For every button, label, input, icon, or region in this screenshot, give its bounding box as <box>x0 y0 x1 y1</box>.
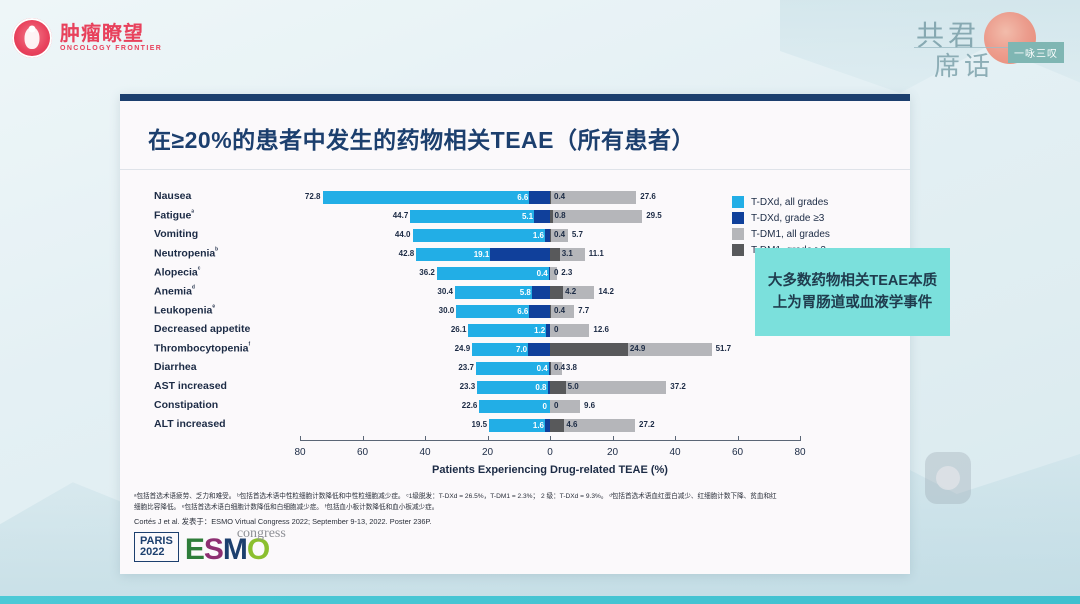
bar-tdxd-all: 0.4 <box>437 267 550 280</box>
axis-tick-label: 0 <box>547 447 553 458</box>
bar-group: 6.672.80.427.6 <box>300 188 800 207</box>
brand-name-cn: 肿瘤瞭望 <box>60 24 162 45</box>
legend-label: T-DXd, grade ≥3 <box>751 213 824 224</box>
bar-tdxd-grade3 <box>532 286 550 299</box>
value-label-inner-right: 0 <box>554 401 558 410</box>
chart-row: AST increased0.823.35.037.2 <box>120 378 910 397</box>
watermark: 共君 席话 一咏三叹 <box>906 6 1066 80</box>
axis-tick-label: 60 <box>732 447 743 458</box>
value-label-inner-right: 0.4 <box>554 192 565 201</box>
category-label: Neutropeniaᵇ <box>154 247 294 260</box>
watermark-line2: 席话 <box>934 46 994 83</box>
value-label-left: 44.0 <box>389 230 411 239</box>
esmo-logo: PARIS 2022 ESMO congress <box>134 532 269 562</box>
value-label-right: 27.2 <box>639 420 655 429</box>
esmo-letter-s: S <box>204 537 223 563</box>
bar-tdm1-grade3 <box>550 305 551 318</box>
axis-tick <box>738 436 739 441</box>
category-label: Constipation <box>154 399 294 411</box>
paris-2022-badge: PARIS 2022 <box>134 532 179 562</box>
bar-tdm1-grade3 <box>550 343 628 356</box>
chart-row: ALT increased1.619.54.627.2 <box>120 416 910 435</box>
value-label-inner-right: 4.6 <box>566 420 577 429</box>
value-label-right: 3.8 <box>566 363 577 372</box>
value-label-left: 22.6 <box>455 401 477 410</box>
bar-group: 022.609.6 <box>300 397 800 416</box>
value-label-right: 7.7 <box>578 306 589 315</box>
category-label: AST increased <box>154 380 294 392</box>
congress-label: congress <box>237 526 286 542</box>
bar-tdxd-all: 0 <box>479 400 550 413</box>
legend-label: T-DXd, all grades <box>751 197 828 208</box>
value-label-right: 2.3 <box>561 268 572 277</box>
bar-group: 19.142.83.111.1 <box>300 245 800 264</box>
chart-row: Constipation022.609.6 <box>120 397 910 416</box>
value-label-right: 9.6 <box>584 401 595 410</box>
key-message-callout: 大多数药物相关TEAE本质上为胃肠道或血液学事件 <box>755 248 950 336</box>
category-label: Thrombocytopeniaᶠ <box>154 342 294 355</box>
bar-tdxd-all: 6.6 <box>323 191 551 204</box>
bottom-accent-strip <box>0 596 1080 604</box>
axis-tick-label: 80 <box>794 447 805 458</box>
title-divider <box>120 169 910 170</box>
value-label-right: 51.7 <box>716 344 732 353</box>
esmo-letter-e: E <box>185 537 204 563</box>
category-label: Leukopeniaᵉ <box>154 304 294 317</box>
bar-tdm1-grade3 <box>550 191 551 204</box>
legend-swatch <box>732 228 744 240</box>
bar-group: 5.830.44.214.2 <box>300 283 800 302</box>
axis-tick <box>675 436 676 441</box>
bar-tdxd-grade3 <box>529 191 550 204</box>
axis-tick <box>488 436 489 441</box>
bar-tdxd-grade3 <box>534 210 550 223</box>
axis-tick-label: 20 <box>482 447 493 458</box>
bar-group: 7.024.924.951.7 <box>300 340 800 359</box>
value-label-left: 36.2 <box>413 268 435 277</box>
axis-tick-label: 20 <box>607 447 618 458</box>
bar-group: 0.423.70.43.8 <box>300 359 800 378</box>
value-label-left: 42.8 <box>392 249 414 258</box>
value-label-right: 12.6 <box>593 325 609 334</box>
bar-tdm1-grade3 <box>550 286 563 299</box>
paris-year: 2022 <box>140 547 173 558</box>
bar-tdm1-grade3 <box>550 381 566 394</box>
value-label-inner-right: 5.0 <box>568 382 579 391</box>
watermark-badge: 一咏三叹 <box>1008 42 1064 63</box>
category-label: Vomiting <box>154 228 294 240</box>
category-label: Decreased appetite <box>154 323 294 335</box>
value-label-left: 30.4 <box>431 287 453 296</box>
crab-seal-icon <box>12 18 52 58</box>
chart-row: Thrombocytopeniaᶠ7.024.924.951.7 <box>120 340 910 359</box>
axis-tick-label: 60 <box>357 447 368 458</box>
axis-tick <box>300 436 301 441</box>
axis-tick <box>800 436 801 441</box>
axis-tick-label: 40 <box>419 447 430 458</box>
legend-item: T-DXd, grade ≥3 <box>732 212 830 224</box>
category-label: Anemiaᵈ <box>154 285 294 298</box>
bar-tdxd-all: 0.4 <box>476 362 550 375</box>
slide-title: 在≥20%的患者中发生的药物相关TEAE（所有患者） <box>120 101 910 155</box>
legend-label: T-DM1, all grades <box>751 229 830 240</box>
bar-tdm1-grade3 <box>550 210 553 223</box>
value-label-right: 37.2 <box>670 382 686 391</box>
category-label: Diarrhea <box>154 361 294 373</box>
category-label: Nausea <box>154 190 294 202</box>
value-label-inner-right: 0.4 <box>554 230 565 239</box>
axis-tick <box>363 436 364 441</box>
axis-tick <box>613 436 614 441</box>
bar-tdxd-grade3 <box>490 248 550 261</box>
value-label-inner-right: 4.2 <box>565 287 576 296</box>
axis-tick <box>550 436 551 441</box>
axis-title: Patients Experiencing Drug-related TEAE … <box>300 464 800 476</box>
value-label-right: 29.5 <box>646 211 662 220</box>
placeholder-thumbnail <box>925 452 971 504</box>
legend-item: T-DXd, all grades <box>732 196 830 208</box>
chart-row: Diarrhea0.423.70.43.8 <box>120 359 910 378</box>
legend-swatch <box>732 196 744 208</box>
slide-screenshot: 肿瘤瞭望 ONCOLOGY FRONTIER 共君 席话 一咏三叹 在≥20%的… <box>0 0 1080 604</box>
value-label-left: 26.1 <box>444 325 466 334</box>
value-label-right: 5.7 <box>572 230 583 239</box>
axis-tick-label: 40 <box>669 447 680 458</box>
legend-swatch <box>732 212 744 224</box>
bar-group: 0.436.202.3 <box>300 264 800 283</box>
bar-tdm1-grade3 <box>550 362 551 375</box>
value-label-inner-right: 0 <box>554 268 558 277</box>
callout-text: 大多数药物相关TEAE本质上为胃肠道或血液学事件 <box>765 270 940 315</box>
value-label-left: 30.0 <box>432 306 454 315</box>
bar-group: 1.619.54.627.2 <box>300 416 800 435</box>
bar-group: 1.226.1012.6 <box>300 321 800 340</box>
bar-tdxd-all: 1.6 <box>489 419 550 432</box>
category-label: Alopeciaᶜ <box>154 266 294 279</box>
brand-name-en: ONCOLOGY FRONTIER <box>60 45 162 52</box>
value-label-left: 24.9 <box>448 344 470 353</box>
bar-tdm1-grade3 <box>550 248 560 261</box>
value-label-left: 44.7 <box>386 211 408 220</box>
value-label-left: 72.8 <box>299 192 321 201</box>
value-label-right: 11.1 <box>589 249 604 258</box>
value-label-right: 27.6 <box>640 192 656 201</box>
value-label-left: 23.3 <box>453 382 475 391</box>
bar-group: 1.644.00.45.7 <box>300 226 800 245</box>
bar-group: 5.144.70.829.5 <box>300 207 800 226</box>
legend-item: T-DM1, all grades <box>732 228 830 240</box>
axis-line: 80604020020406080 <box>300 440 800 441</box>
brand-logo: 肿瘤瞭望 ONCOLOGY FRONTIER <box>12 18 162 58</box>
citation: Cortés J et al. 发表于：ESMO Virtual Congres… <box>134 516 794 528</box>
value-label-right: 14.2 <box>598 287 614 296</box>
value-label-inner-right: 0.4 <box>554 306 565 315</box>
footnote-line-1: ᵃ包括首选术语疲劳、乏力和难受。 ᵇ包括首选术语中性粒细胞计数降低和中性粒细胞减… <box>134 492 794 503</box>
value-label-left: 23.7 <box>452 363 474 372</box>
bar-tdm1-grade3 <box>550 419 564 432</box>
footnote-line-2: 细胞比容降低。 ᵉ包括首选术语白细胞计数降低和白细胞减少症。 ᶠ包括血小板计数降… <box>134 503 794 514</box>
axis-tick <box>425 436 426 441</box>
bar-tdxd-all: 5.1 <box>410 210 550 223</box>
value-label-inner-right: 0.8 <box>555 211 566 220</box>
bar-tdxd-grade3 <box>528 343 550 356</box>
slide-top-bar <box>120 94 910 101</box>
value-label-inner-right: 24.9 <box>630 344 646 353</box>
bar-tdm1-grade3 <box>550 229 551 242</box>
chart-x-axis: 80604020020406080 Patients Experiencing … <box>300 440 800 441</box>
value-label-inner-right: 3.1 <box>562 249 573 258</box>
bar-tdxd-all: 1.2 <box>468 324 550 337</box>
value-label-inner-right: 0.4 <box>554 363 565 372</box>
bar-tdxd-all: 1.6 <box>413 229 551 242</box>
value-label-inner-right: 0 <box>554 325 558 334</box>
bar-group: 6.630.00.47.7 <box>300 302 800 321</box>
esmo-wordmark: ESMO congress <box>185 537 269 563</box>
axis-tick-label: 80 <box>294 447 305 458</box>
category-label: Fatigueᵃ <box>154 209 294 222</box>
bar-group: 0.823.35.037.2 <box>300 378 800 397</box>
bar-tdxd-grade3 <box>529 305 550 318</box>
value-label-left: 19.5 <box>465 420 487 429</box>
bar-tdxd-all: 0.8 <box>477 381 550 394</box>
category-label: ALT increased <box>154 418 294 430</box>
footnotes: ᵃ包括首选术语疲劳、乏力和难受。 ᵇ包括首选术语中性粒细胞计数降低和中性粒细胞减… <box>134 492 794 528</box>
legend-swatch <box>732 244 744 256</box>
